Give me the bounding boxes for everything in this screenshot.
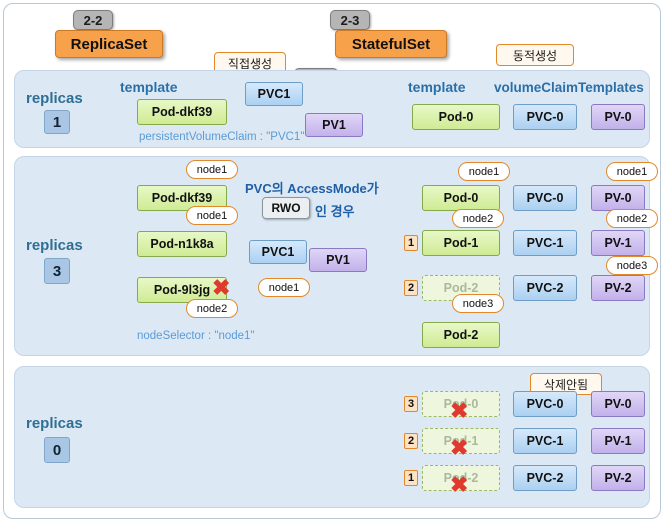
ordinal-badge: 3: [404, 396, 418, 412]
node-label: node1: [186, 206, 238, 225]
callout-dynamic-create: 동적생성: [496, 44, 574, 66]
node-label: node1: [186, 160, 238, 179]
pv-box: PV-1: [591, 230, 645, 256]
template-label-rs-1: template: [120, 79, 178, 95]
pod-box: Pod-dkf39: [137, 99, 227, 125]
pvc-box: PVC-0: [513, 185, 577, 211]
ordinal-badge: 2: [404, 280, 418, 296]
failure-x-icon: ✖: [450, 400, 468, 422]
pv-box: PV-0: [591, 104, 645, 130]
failure-x-icon: ✖: [450, 437, 468, 459]
pvc-box: PVC-2: [513, 275, 577, 301]
replicas-count-1: 1: [44, 110, 70, 134]
pvc-box: PVC-2: [513, 465, 577, 491]
header-statefulset: StatefulSet: [335, 30, 447, 58]
ordinal-badge: 2: [404, 433, 418, 449]
pvc-box: PVC-0: [513, 391, 577, 417]
node-label: node2: [606, 209, 658, 228]
pv-box: PV1: [309, 248, 367, 272]
replicas-count-3: 0: [44, 437, 70, 463]
node-label: node1: [606, 162, 658, 181]
node-label: node1: [458, 162, 510, 181]
pod-box: Pod-1: [422, 230, 500, 256]
replicas-label-2: replicas: [26, 237, 83, 254]
pv-box: PV-0: [591, 185, 645, 211]
pvc-box: PVC1: [249, 240, 307, 264]
pvc-note-1: persistentVolumeClaim : "PVC1": [139, 131, 304, 143]
replicas-label-1: replicas: [26, 90, 83, 107]
pvc-box: PVC-1: [513, 428, 577, 454]
tag-2-2: 2-2: [73, 10, 113, 30]
pvc-box: PVC-1: [513, 230, 577, 256]
pv-box: PV1: [305, 113, 363, 137]
accessmode-note-line1: PVC의 AccessMode가: [245, 178, 379, 197]
pod-box: Pod-2: [422, 322, 500, 348]
replicas-count-2: 3: [44, 258, 70, 284]
node-label: node2: [452, 209, 504, 228]
vct-label: volumeClaimTemplates: [494, 80, 644, 95]
pv-box: PV-2: [591, 275, 645, 301]
node-selector-note: nodeSelector : "node1": [137, 330, 255, 342]
template-label-sts-1: template: [408, 79, 466, 95]
node-label: node2: [186, 299, 238, 318]
pvc-box: PVC-0: [513, 104, 577, 130]
replicas-label-3: replicas: [26, 415, 83, 432]
node-label: node3: [606, 256, 658, 275]
failure-x-icon: ✖: [212, 277, 230, 299]
pv-box: PV-1: [591, 428, 645, 454]
pv-box: PV-0: [591, 391, 645, 417]
pod-box: Pod-0: [412, 104, 500, 130]
pv-box: PV-2: [591, 465, 645, 491]
diagram-root: 2-2 ReplicaSet 2-3 StatefulSet 직접생성 2-1 …: [0, 0, 664, 522]
pod-box: Pod-n1k8a: [137, 231, 227, 257]
pvc-box: PVC1: [245, 82, 303, 106]
header-replicaset: ReplicaSet: [55, 30, 163, 58]
accessmode-rwo-badge: RWO: [262, 197, 310, 219]
node-label: node1: [258, 278, 310, 297]
tag-2-3: 2-3: [330, 10, 370, 30]
failure-x-icon: ✖: [450, 474, 468, 496]
accessmode-note-line2: 인 경우: [315, 201, 355, 220]
ordinal-badge: 1: [404, 235, 418, 251]
node-label: node3: [452, 294, 504, 313]
ordinal-badge: 1: [404, 470, 418, 486]
pod-box: Pod-0: [422, 185, 500, 211]
